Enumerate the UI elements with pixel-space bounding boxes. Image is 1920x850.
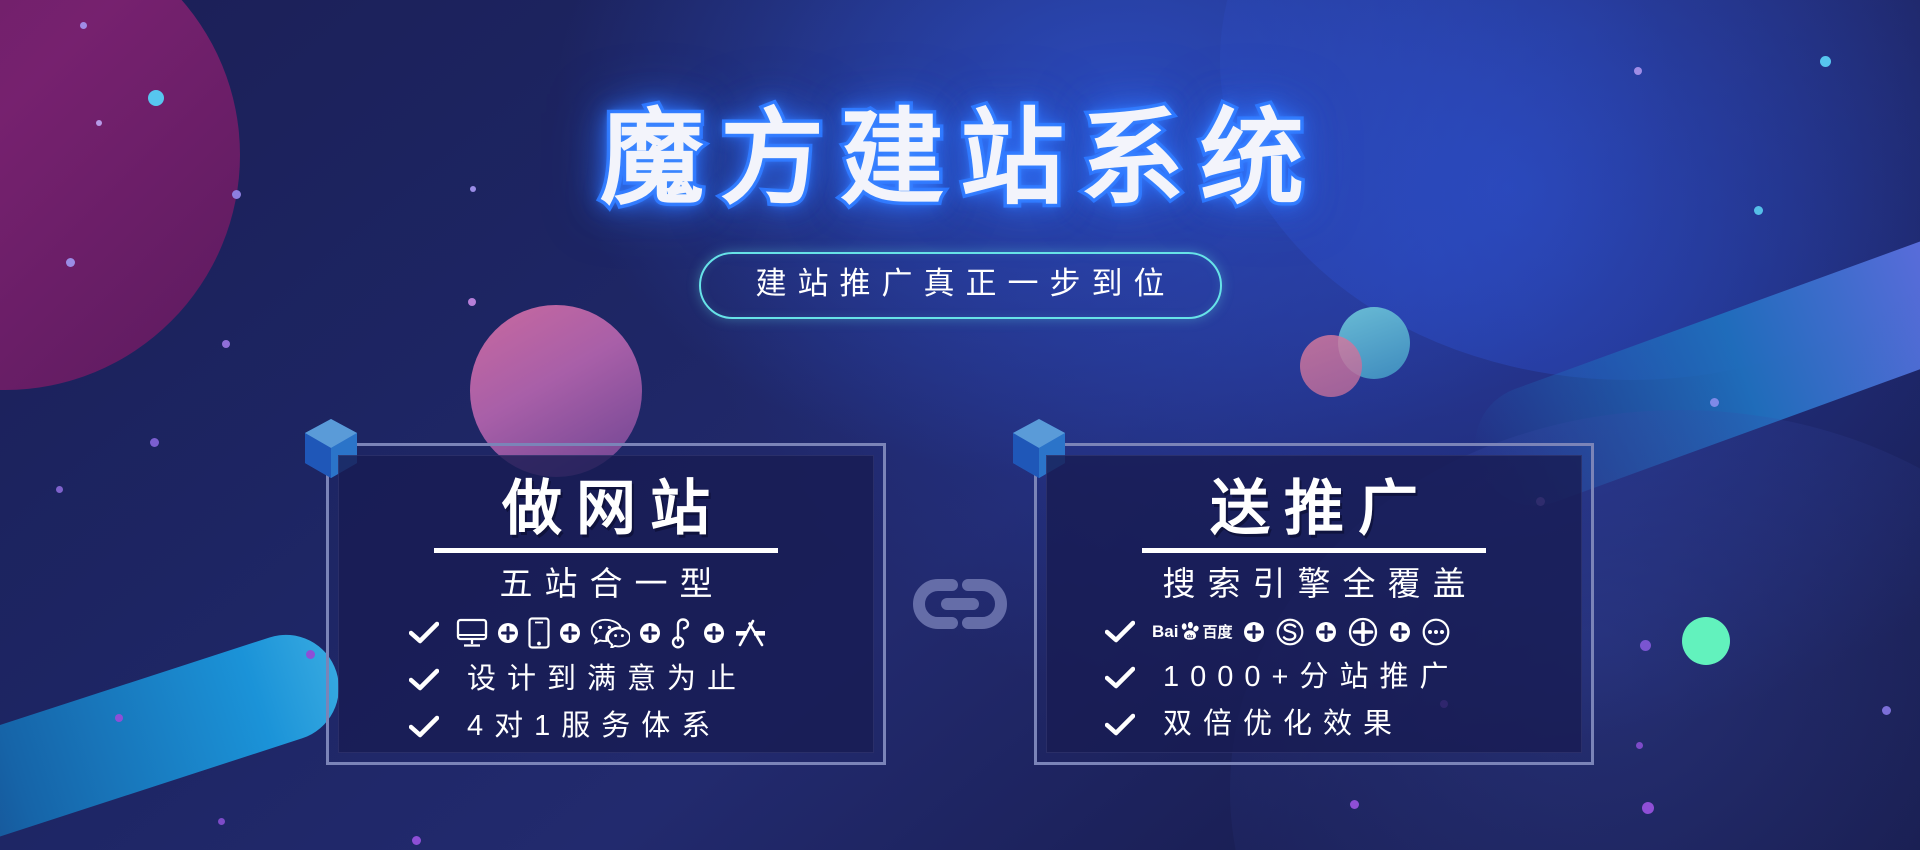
feature-label: 4对1服务体系 xyxy=(456,711,721,743)
heading-underline xyxy=(434,548,778,553)
card-heading: 做网站 xyxy=(488,478,724,542)
platform-icons-row xyxy=(456,617,768,649)
check-icon xyxy=(409,621,439,645)
sogou-s-icon xyxy=(1276,618,1304,646)
page-title: 魔方建站系统 xyxy=(600,100,1320,216)
plus-circle-icon xyxy=(1243,621,1265,643)
card-heading: 送推广 xyxy=(1196,478,1432,542)
hero-subtitle-pill: 建站推广真正一步到位 xyxy=(699,252,1222,319)
cards-row: 做网站 五站合一型 xyxy=(0,443,1920,765)
feature-row-2: 4对1服务体系 xyxy=(339,711,873,743)
card-inner-panel: 送推广 搜索引擎全覆盖 Bai xyxy=(1046,455,1582,753)
check-icon xyxy=(1105,666,1135,690)
qq-music-note-icon xyxy=(670,617,694,649)
card-build-website[interactable]: 做网站 五站合一型 xyxy=(326,443,886,765)
search-engine-icons-row: Bai du 百度 xyxy=(1152,617,1450,647)
feature-label: 设计到满意为止 xyxy=(456,664,747,696)
feature-label: 双倍优化效果 xyxy=(1152,709,1403,741)
check-icon xyxy=(1105,713,1135,737)
plus-circle-icon xyxy=(497,622,519,644)
desktop-monitor-icon xyxy=(456,618,488,648)
smartphone-icon xyxy=(528,617,550,649)
feature-row-1: 1000+分站推广 xyxy=(1047,662,1581,694)
check-icon xyxy=(409,715,439,739)
hero-subtitle-wrap: 建站推广真正一步到位 xyxy=(0,252,1920,319)
card-inner-panel: 做网站 五站合一型 xyxy=(338,455,874,753)
feature-row-1: 设计到满意为止 xyxy=(339,664,873,696)
plus-circle-icon xyxy=(1315,621,1337,643)
feature-row-icons: Bai du 百度 xyxy=(1047,617,1581,647)
check-icon xyxy=(409,668,439,692)
chain-link-icon xyxy=(908,576,1012,632)
baidu-logo-icon: Bai du 百度 xyxy=(1152,621,1232,642)
baidu-chinese: 百度 xyxy=(1202,621,1232,642)
baidu-latin: Bai xyxy=(1152,622,1178,642)
plus-circle-icon xyxy=(703,622,725,644)
card-subheading: 搜索引擎全覆盖 xyxy=(1151,566,1478,602)
baidu-du-text: du xyxy=(1187,634,1194,640)
plus-circle-icon xyxy=(559,622,581,644)
feature-label: 1000+分站推广 xyxy=(1152,662,1459,694)
heading-underline xyxy=(1142,548,1486,553)
hero-section: 魔方建站系统 建站推广真正一步到位 xyxy=(0,100,1920,319)
baidu-paw-icon: du xyxy=(1180,622,1200,642)
connector-gap xyxy=(886,443,1034,765)
so360-plus-icon xyxy=(1348,617,1378,647)
plus-circle-icon xyxy=(1389,621,1411,643)
banner-stage: 魔方建站系统 建站推广真正一步到位 做网站 五站合一型 xyxy=(0,0,1920,850)
card-subheading: 五站合一型 xyxy=(488,566,725,602)
check-icon xyxy=(1105,620,1135,644)
feature-row-icons xyxy=(339,617,873,649)
wechat-icon xyxy=(590,618,630,648)
app-store-icon xyxy=(734,618,768,648)
plus-circle-icon xyxy=(639,622,661,644)
feature-row-2: 双倍优化效果 xyxy=(1047,709,1581,741)
card-free-promotion[interactable]: 送推广 搜索引擎全覆盖 Bai xyxy=(1034,443,1594,765)
pink-small-planet-decoration xyxy=(1300,335,1362,397)
ellipsis-circle-icon xyxy=(1422,618,1450,646)
